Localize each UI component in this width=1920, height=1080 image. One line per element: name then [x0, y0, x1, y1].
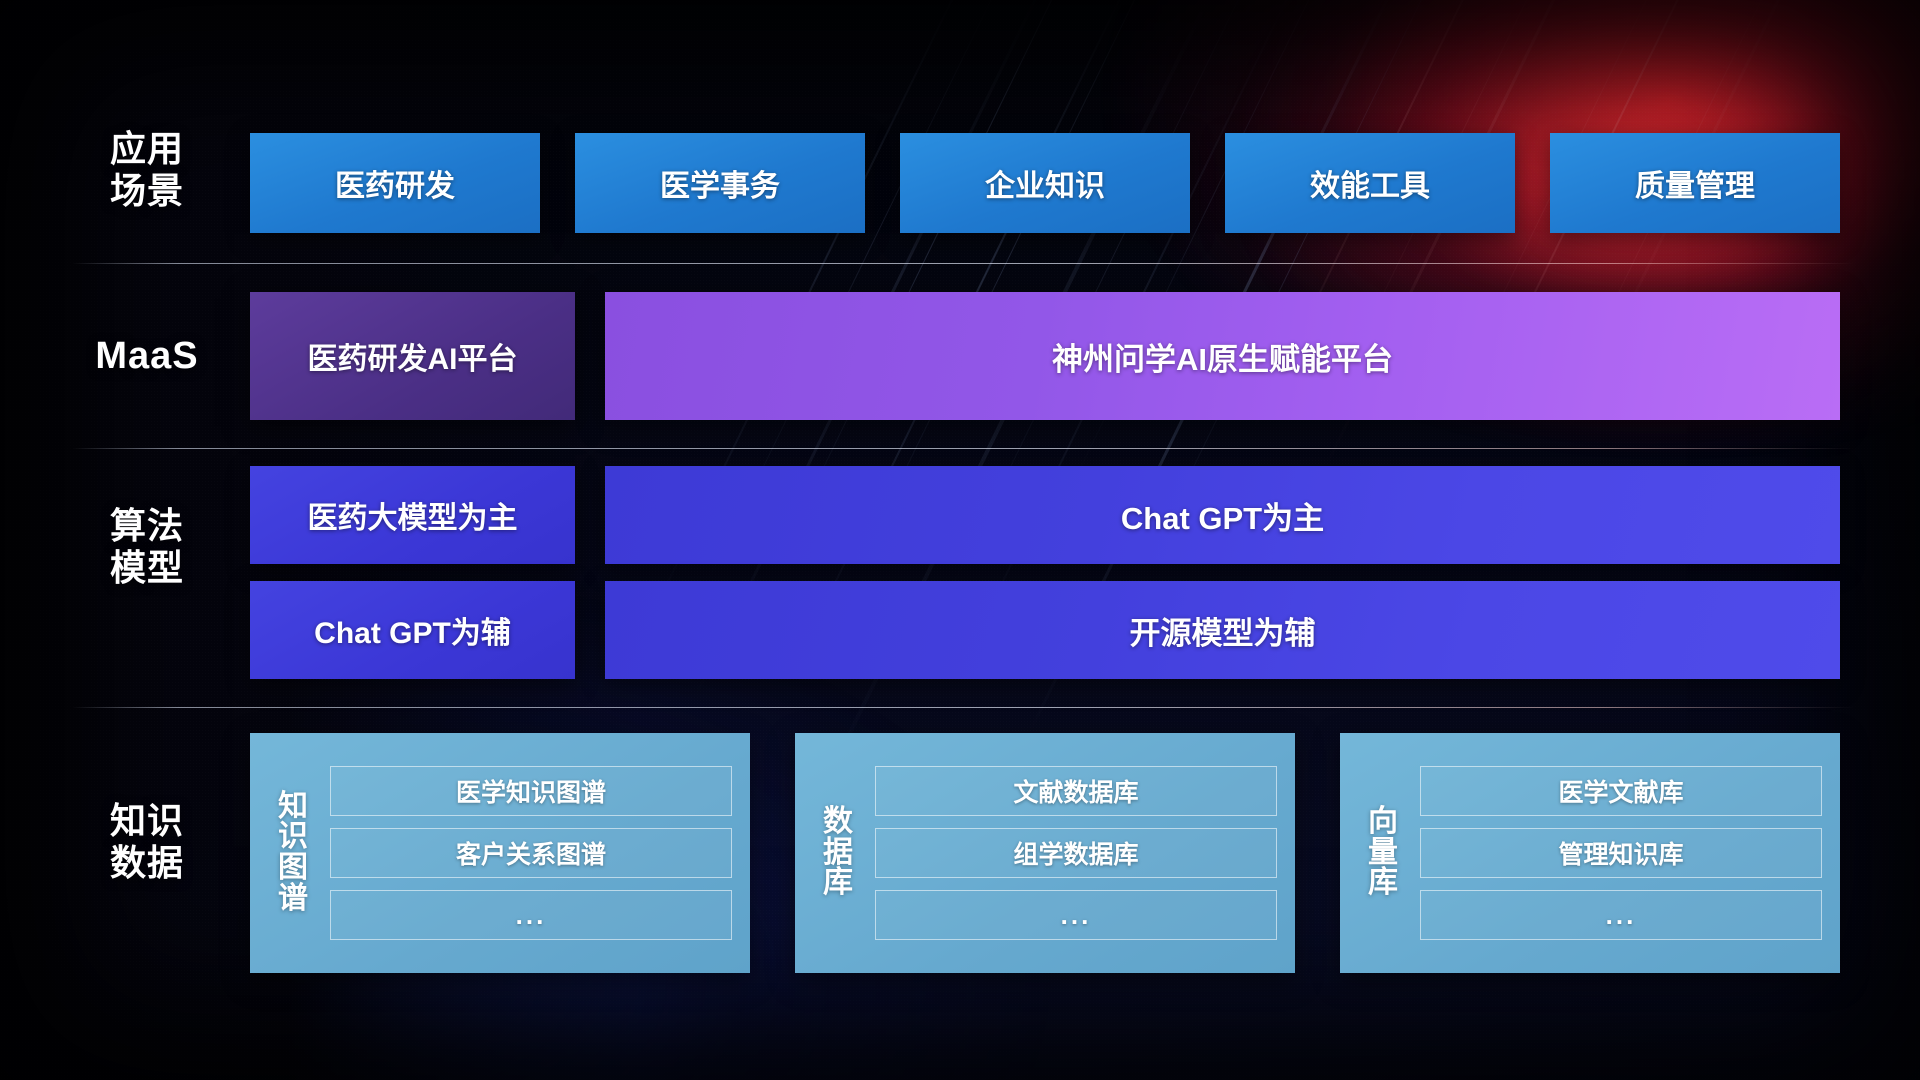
- app-card-efficiency-tools[interactable]: 效能工具: [1225, 133, 1515, 233]
- knowledge-item-more[interactable]: ...: [1420, 890, 1822, 940]
- maas-card-drug-rd-ai-platform[interactable]: 医药研发AI平台: [250, 292, 575, 420]
- row-label-line2: 模型: [72, 547, 222, 589]
- knowledge-item[interactable]: 文献数据库: [875, 766, 1277, 816]
- row-label-line1: 知识: [72, 800, 222, 842]
- knowledge-item[interactable]: 组学数据库: [875, 828, 1277, 878]
- knowledge-item-list: 医学知识图谱 客户关系图谱 ...: [330, 766, 732, 940]
- algo-card-opensource-secondary[interactable]: 开源模型为辅: [605, 581, 1840, 679]
- row-label-knowledge-data: 知识 数据: [72, 800, 222, 885]
- row-label-line1: 算法: [72, 505, 222, 547]
- row-label-line2: 数据: [72, 842, 222, 884]
- knowledge-panel-vertical-label: 数据库: [811, 807, 865, 899]
- knowledge-panel-vertical-label: 知识图谱: [266, 792, 320, 914]
- row-label-maas: MaaS: [72, 334, 222, 379]
- row-label-application-scenarios: 应用 场景: [72, 128, 222, 213]
- divider-2: [72, 448, 1854, 449]
- knowledge-panel-knowledge-graph[interactable]: 知识图谱 医学知识图谱 客户关系图谱 ...: [250, 733, 750, 973]
- algo-card-chatgpt-secondary[interactable]: Chat GPT为辅: [250, 581, 575, 679]
- row-label-algorithm-models: 算法 模型: [72, 505, 222, 590]
- app-card-quality-management[interactable]: 质量管理: [1550, 133, 1840, 233]
- knowledge-panel-vector-store[interactable]: 向量库 医学文献库 管理知识库 ...: [1340, 733, 1840, 973]
- app-card-drug-rd[interactable]: 医药研发: [250, 133, 540, 233]
- knowledge-item[interactable]: 医学文献库: [1420, 766, 1822, 816]
- knowledge-item-more[interactable]: ...: [875, 890, 1277, 940]
- knowledge-panel-vertical-label: 向量库: [1356, 807, 1410, 899]
- knowledge-item-more[interactable]: ...: [330, 890, 732, 940]
- divider-1: [72, 263, 1854, 264]
- algo-card-chatgpt-primary[interactable]: Chat GPT为主: [605, 466, 1840, 564]
- knowledge-item-list: 文献数据库 组学数据库 ...: [875, 766, 1277, 940]
- algo-card-drug-large-model-primary[interactable]: 医药大模型为主: [250, 466, 575, 564]
- knowledge-item[interactable]: 医学知识图谱: [330, 766, 732, 816]
- row-label-maas-text: MaaS: [72, 334, 222, 379]
- knowledge-item[interactable]: 客户关系图谱: [330, 828, 732, 878]
- divider-3: [72, 707, 1854, 708]
- knowledge-panel-label-text: 向量库: [1368, 807, 1398, 899]
- app-card-enterprise-knowledge[interactable]: 企业知识: [900, 133, 1190, 233]
- app-card-medical-affairs[interactable]: 医学事务: [575, 133, 865, 233]
- knowledge-panel-database[interactable]: 数据库 文献数据库 组学数据库 ...: [795, 733, 1295, 973]
- knowledge-panel-label-text: 数据库: [823, 807, 853, 899]
- knowledge-item[interactable]: 管理知识库: [1420, 828, 1822, 878]
- slide-canvas: 应用 场景 医药研发 医学事务 企业知识 效能工具 质量管理 MaaS 医药研发…: [0, 0, 1920, 1080]
- knowledge-panel-label-text: 知识图谱: [278, 792, 308, 914]
- maas-card-shenzhou-wenxue-platform[interactable]: 神州问学AI原生赋能平台: [605, 292, 1840, 420]
- knowledge-item-list: 医学文献库 管理知识库 ...: [1420, 766, 1822, 940]
- row-label-line2: 场景: [72, 170, 222, 212]
- row-label-line1: 应用: [72, 128, 222, 170]
